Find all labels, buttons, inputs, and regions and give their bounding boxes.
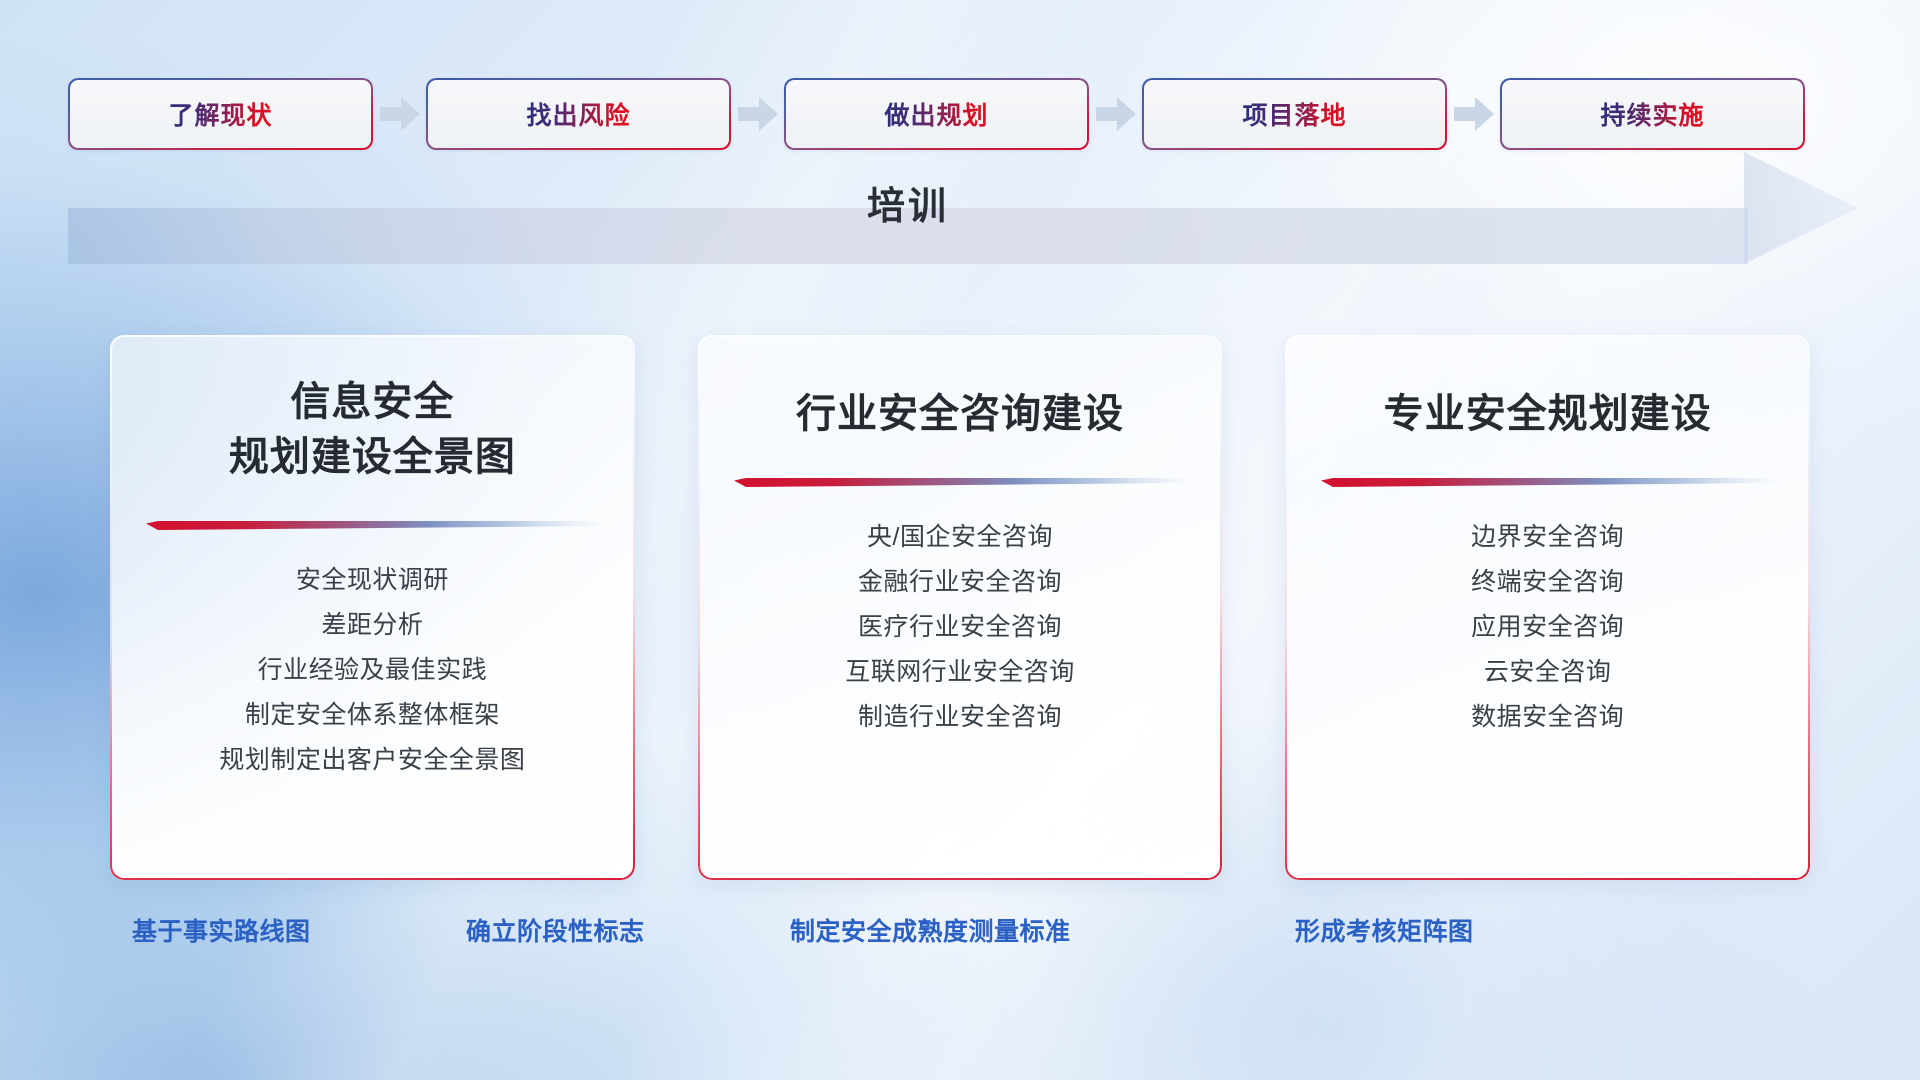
- process-step-label: 持续实施: [1600, 96, 1704, 132]
- list-item: 行业经验及最佳实践: [110, 648, 635, 693]
- process-step-label: 项目落地: [1242, 96, 1346, 132]
- card-divider: [146, 517, 599, 526]
- process-step-5[interactable]: 持续实施: [1500, 78, 1805, 150]
- training-banner-title: 培训: [68, 174, 1748, 230]
- list-item: 边界安全咨询: [1285, 515, 1810, 560]
- list-item: 医疗行业安全咨询: [698, 605, 1223, 650]
- card-title-line: 行业安全咨询建设: [698, 387, 1223, 442]
- card-item-list: 边界安全咨询 终端安全咨询 应用安全咨询 云安全咨询 数据安全咨询: [1285, 515, 1810, 740]
- process-step-1[interactable]: 了解现状: [68, 78, 373, 150]
- arrow-right-icon: [731, 78, 784, 150]
- list-item: 数据安全咨询: [1285, 695, 1810, 740]
- process-step-row: 了解现状 找出风险 做出规划 项目落地 持续实施: [68, 78, 1856, 150]
- process-step-3[interactable]: 做出规划: [784, 78, 1089, 150]
- arrow-right-icon: [1089, 78, 1142, 150]
- card-divider: [1321, 474, 1774, 483]
- list-item: 差距分析: [110, 603, 635, 648]
- process-step-label: 了解现状: [168, 96, 272, 132]
- list-item: 制造行业安全咨询: [698, 695, 1223, 740]
- card-divider: [734, 474, 1187, 483]
- banner-arrow-head-icon: [1744, 152, 1858, 264]
- list-item: 制定安全体系整体框架: [110, 693, 635, 738]
- card-industry-security-consulting[interactable]: 行业安全咨询建设 央/国企安全咨询 金融行业安全咨询: [698, 335, 1223, 880]
- list-item: 终端安全咨询: [1285, 560, 1810, 605]
- bottom-label-4: 形成考核矩阵图: [1295, 912, 1474, 948]
- list-item: 安全现状调研: [110, 558, 635, 603]
- training-banner: 培训: [68, 152, 1858, 264]
- list-item: 央/国企安全咨询: [698, 515, 1223, 560]
- card-title-line: 专业安全规划建设: [1285, 387, 1810, 442]
- arrow-right-icon: [1447, 78, 1500, 150]
- card-item-list: 央/国企安全咨询 金融行业安全咨询 医疗行业安全咨询 互联网行业安全咨询 制造行…: [698, 515, 1223, 740]
- process-step-2[interactable]: 找出风险: [426, 78, 731, 150]
- list-item: 云安全咨询: [1285, 650, 1810, 695]
- card-title: 行业安全咨询建设: [698, 335, 1223, 442]
- bottom-label-row: 基于事实路线图 确立阶段性标志 制定安全成熟度测量标准 形成考核矩阵图: [0, 912, 1920, 960]
- process-step-label: 找出风险: [526, 96, 630, 132]
- list-item: 应用安全咨询: [1285, 605, 1810, 650]
- card-item-list: 安全现状调研 差距分析 行业经验及最佳实践 制定安全体系整体框架 规划制定出客户…: [110, 558, 635, 783]
- arrow-right-icon: [373, 78, 426, 150]
- bottom-label-1: 基于事实路线图: [132, 912, 311, 948]
- process-step-4[interactable]: 项目落地: [1142, 78, 1447, 150]
- card-title: 专业安全规划建设: [1285, 335, 1810, 442]
- process-step-label: 做出规划: [884, 96, 988, 132]
- card-title-line: 信息安全: [110, 375, 635, 430]
- card-information-security-blueprint[interactable]: 信息安全 规划建设全景图 安全现状调研 差: [110, 335, 635, 880]
- list-item: 互联网行业安全咨询: [698, 650, 1223, 695]
- bottom-label-3: 制定安全成熟度测量标准: [790, 912, 1071, 948]
- list-item: 金融行业安全咨询: [698, 560, 1223, 605]
- bottom-label-2: 确立阶段性标志: [466, 912, 645, 948]
- card-group: 信息安全 规划建设全景图 安全现状调研 差: [110, 335, 1810, 890]
- card-title: 信息安全 规划建设全景图: [110, 335, 635, 485]
- card-professional-security-planning[interactable]: 专业安全规划建设 边界安全咨询 终端安全咨询: [1285, 335, 1810, 880]
- list-item: 规划制定出客户安全全景图: [110, 738, 635, 783]
- card-title-line: 规划建设全景图: [110, 430, 635, 485]
